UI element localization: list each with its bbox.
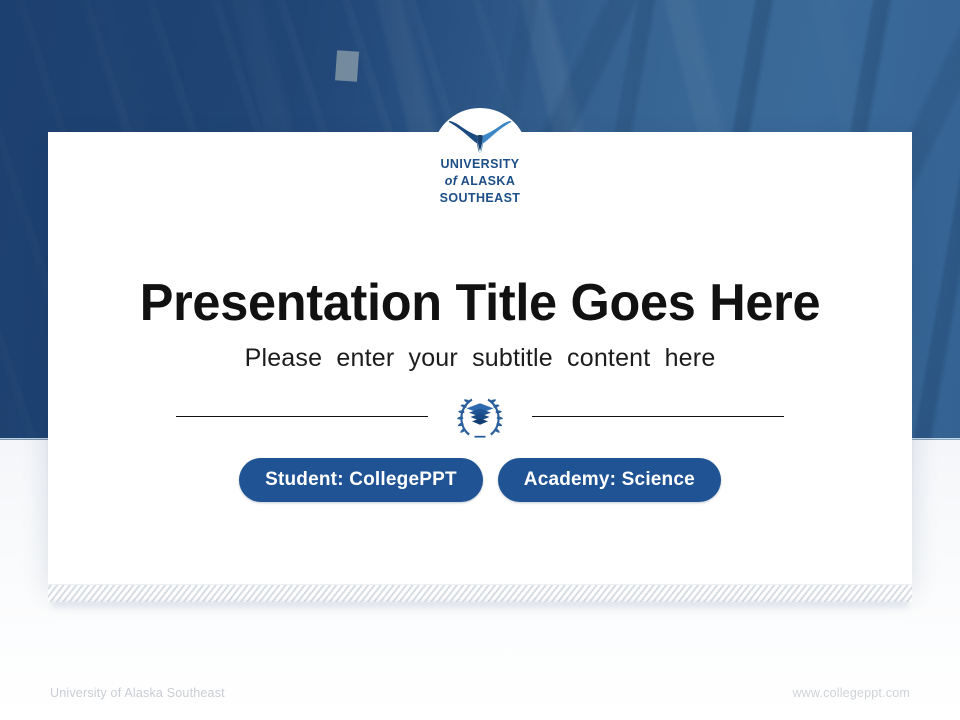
logo-wordmark: UNIVERSITY of ALASKA SOUTHEAST	[432, 156, 528, 207]
logo-line-southeast: SOUTHEAST	[432, 190, 528, 207]
page-subtitle: Please enter your subtitle content here	[48, 342, 912, 374]
card-hatched-strip	[48, 584, 912, 602]
footer-institution: University of Alaska Southeast	[50, 686, 225, 700]
university-logo: UNIVERSITY of ALASKA SOUTHEAST	[432, 108, 528, 220]
academy-pill-button[interactable]: Academy: Science	[498, 458, 721, 502]
divider	[48, 392, 912, 440]
divider-emblem	[454, 392, 506, 440]
logo-of-word: of	[445, 174, 458, 188]
student-pill-button[interactable]: Student: CollegePPT	[239, 458, 483, 502]
divider-rule-left	[176, 416, 428, 417]
slide-footer: University of Alaska Southeast www.colle…	[0, 682, 960, 704]
pill-button-group: Student: CollegePPT Academy: Science	[48, 458, 912, 502]
footer-website: www.collegeppt.com	[792, 686, 910, 700]
divider-rule-right	[532, 416, 784, 417]
page-title: Presentation Title Goes Here	[61, 272, 899, 334]
headline-block: Presentation Title Goes Here Please ente…	[48, 272, 912, 374]
whale-tail-icon	[448, 120, 512, 154]
presentation-slide: UNIVERSITY of ALASKA SOUTHEAST Presentat…	[0, 0, 960, 720]
logo-line-of-alaska: of ALASKA	[432, 173, 528, 190]
logo-line-university: UNIVERSITY	[432, 156, 528, 173]
card-bottom-shadow	[52, 601, 908, 611]
photo-wall-sign	[335, 50, 359, 81]
graduation-cap-laurel-emblem	[454, 392, 506, 440]
logo-alaska-word: ALASKA	[461, 174, 515, 188]
